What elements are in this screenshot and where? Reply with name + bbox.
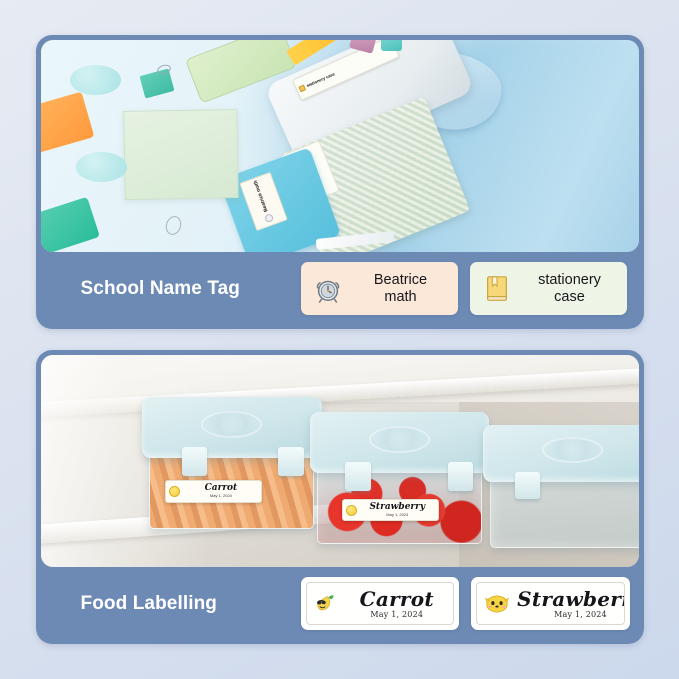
- photo-sticker-carrot: Carrot May 1, 2024: [165, 480, 262, 502]
- label-inner-carrot: Carrot May 1, 2024: [306, 582, 455, 625]
- panel-title-school-name-tag: School Name Tag: [53, 278, 291, 300]
- photo-sticker-strawberry: Strawberry May 1, 2024: [342, 499, 439, 521]
- lemon-cat-face-icon: [483, 590, 511, 618]
- label-name: Carrot: [360, 589, 434, 609]
- tag-line-1: stationery: [538, 272, 601, 288]
- photo-fridge-containers: Carrot May 1, 2024 Strawberry May 1: [41, 355, 639, 567]
- container-clasp: [515, 472, 540, 499]
- washi-tape-roll: [70, 65, 121, 95]
- alarm-clock-icon: [311, 272, 345, 306]
- caption-row-school: School Name Tag: [41, 252, 639, 329]
- teal-marker: [381, 40, 402, 51]
- tag-list-school: Beatrice math stationery case: [301, 262, 627, 315]
- label-name: Strawberry: [517, 589, 625, 609]
- container-clasp: [345, 462, 370, 491]
- label-texts-strawberry: Strawberry May 1, 2024: [517, 589, 625, 619]
- container-strawberry: Strawberry May 1, 2024: [310, 412, 489, 543]
- orange-card: [41, 92, 94, 153]
- label-texts-carrot: Carrot May 1, 2024: [347, 589, 448, 619]
- panel-food-labelling: Carrot May 1, 2024 Strawberry May 1: [36, 350, 644, 644]
- tag-line-2: math: [384, 289, 416, 305]
- lemon-cat-face-icon: [346, 505, 357, 516]
- container-third: [483, 425, 638, 548]
- photo-sticker-name: Carrot: [205, 484, 238, 493]
- tag-card-text: stationery case: [523, 272, 617, 304]
- photo-sticker-texts: Strawberry May 1, 2024: [360, 503, 435, 517]
- teal-tape: [41, 197, 100, 252]
- caption-row-food: Food Labelling: [41, 567, 639, 644]
- photo-sticker-name: Strawberry: [369, 503, 425, 512]
- panel-school-name-tag: stationery case reading Beatrice math: [36, 35, 644, 329]
- label-date: May 1, 2024: [370, 611, 423, 619]
- photo-sticker-date: May 1, 2024: [210, 494, 232, 498]
- panel-title-food-labelling: Food Labelling: [53, 593, 291, 615]
- label-inner-strawberry: Strawberry May 1, 2024: [476, 582, 625, 625]
- page-root: stationery case reading Beatrice math: [0, 0, 679, 679]
- tag-card-stationery-case[interactable]: stationery case: [470, 262, 627, 315]
- tag-card-strawberry[interactable]: Strawberry May 1, 2024: [471, 577, 630, 630]
- photo-sticker-texts: Carrot May 1, 2024: [183, 484, 258, 498]
- washi-tape-roll: [76, 152, 127, 182]
- pear-with-sunglasses-icon: [169, 486, 180, 497]
- container-clasp: [182, 447, 207, 476]
- book-icon: [480, 272, 514, 306]
- container-clasp: [278, 447, 303, 476]
- photo-school-desk: stationery case reading Beatrice math: [41, 40, 639, 252]
- tag-card-carrot[interactable]: Carrot May 1, 2024: [301, 577, 460, 630]
- container-clasp: [448, 462, 473, 491]
- label-date: May 1, 2024: [554, 611, 607, 619]
- paper-clip-icon: [164, 214, 184, 237]
- container-carrot: Carrot May 1, 2024: [142, 397, 321, 528]
- tag-card-beatrice-math[interactable]: Beatrice math: [301, 262, 458, 315]
- photo-sticker-date: May 1, 2024: [386, 513, 408, 517]
- container-lid: [483, 425, 638, 482]
- sticky-note-icon: [298, 84, 306, 92]
- photo-label-text: stationery case: [305, 71, 335, 88]
- tag-line-1: Beatrice: [374, 272, 427, 288]
- tag-line-2: case: [554, 289, 585, 305]
- tag-list-food: Carrot May 1, 2024: [301, 577, 630, 630]
- green-paper-sheet: [123, 109, 238, 200]
- alarm-clock-icon: [264, 212, 274, 222]
- tag-card-text: Beatrice math: [354, 272, 448, 304]
- pear-with-sunglasses-icon: [313, 590, 341, 618]
- photo-label-text: Beatrice math: [253, 179, 270, 212]
